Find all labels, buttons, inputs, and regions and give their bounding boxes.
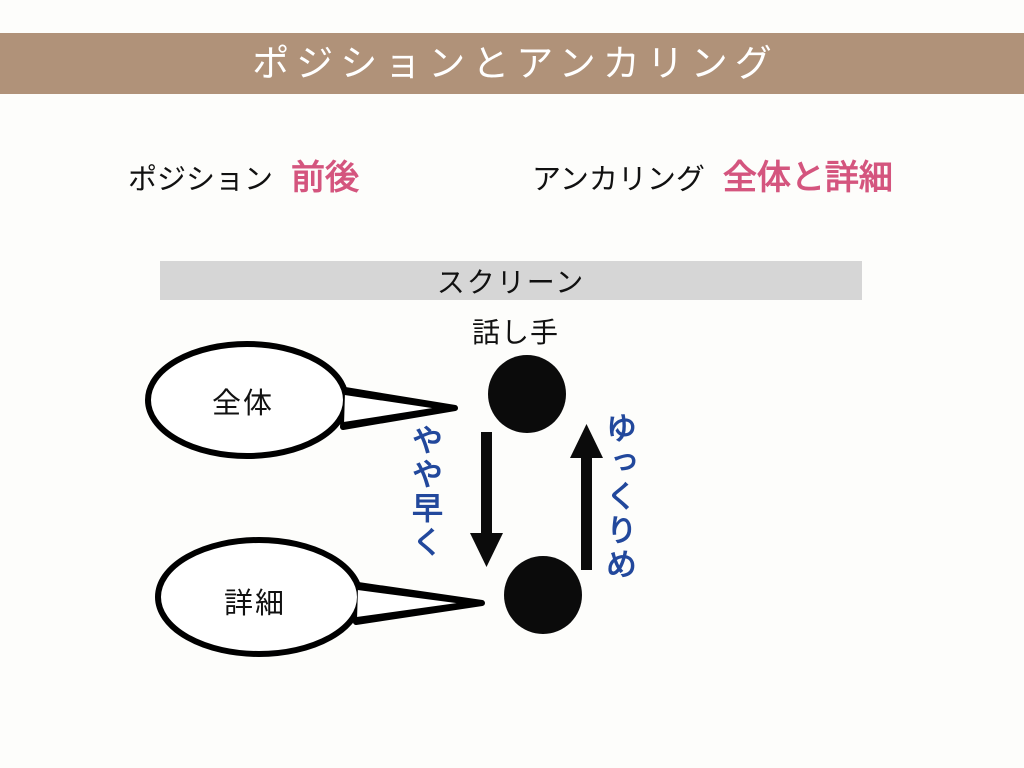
title-banner: ポジションとアンカリング <box>0 33 1024 94</box>
speaker-dot-bottom <box>504 556 582 634</box>
speech-bubble-overall-tail-outline <box>344 392 452 425</box>
heading-position-label: ポジション <box>128 156 273 198</box>
screen-bar-label: スクリーン <box>437 261 586 301</box>
heading-anchoring-group: アンカリング 全体と詳細 <box>532 150 893 199</box>
bubble-label-overall: 全体 <box>212 380 274 422</box>
heading-row: ポジション 前後 アンカリング 全体と詳細 <box>0 150 1024 206</box>
heading-anchoring-value: 全体と詳細 <box>723 150 893 199</box>
slide-canvas: ポジションとアンカリング ポジション 前後 アンカリング 全体と詳細 スクリーン… <box>0 0 1024 768</box>
arrow-down <box>470 432 503 567</box>
pace-annotation-slow: ゆっくりめ <box>602 412 633 582</box>
speech-bubble-overall-tail <box>343 390 455 427</box>
arrow-up <box>570 424 603 570</box>
speaker-dot-top <box>488 355 566 433</box>
pace-annotation-fast: やや早く <box>408 424 439 560</box>
screen-bar: スクリーン <box>160 261 862 300</box>
speech-bubble-detail-tail-outline <box>357 587 479 620</box>
heading-anchoring-label: アンカリング <box>532 156 705 198</box>
heading-position-group: ポジション 前後 <box>128 150 359 199</box>
speaker-label: 話し手 <box>472 311 559 351</box>
bubble-label-detail: 詳細 <box>224 580 286 622</box>
arrow-up-shaft <box>581 454 592 570</box>
page-title: ポジションとアンカリング <box>245 45 779 82</box>
diagram-shapes <box>0 0 1024 768</box>
arrow-down-head <box>470 533 503 567</box>
heading-position-value: 前後 <box>291 150 359 199</box>
arrow-down-shaft <box>481 432 492 537</box>
arrow-up-head <box>570 424 603 458</box>
speech-bubble-detail-tail <box>356 585 482 622</box>
